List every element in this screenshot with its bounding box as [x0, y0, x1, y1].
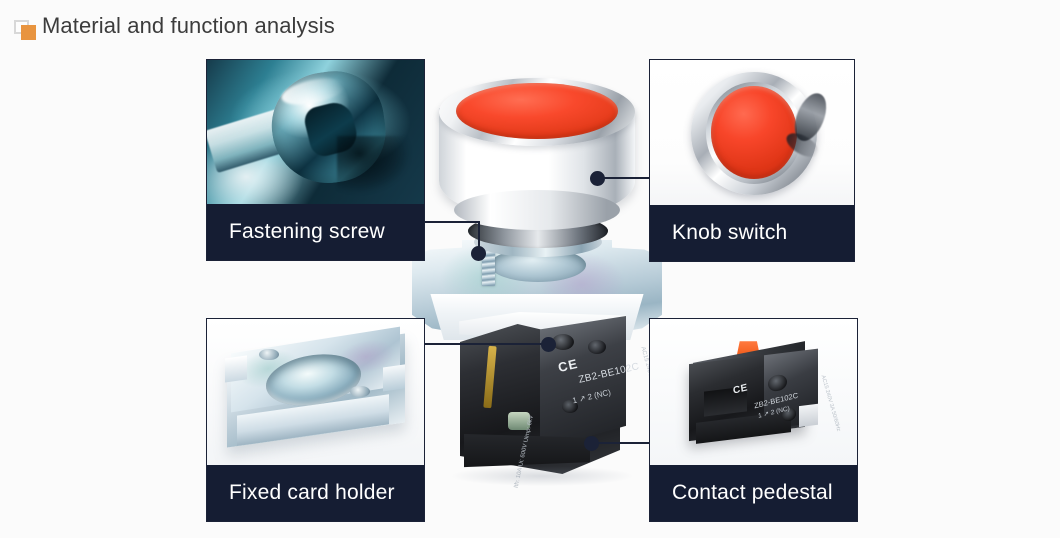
- leader-line-knob-switch: [600, 177, 651, 179]
- holder-notch-right: [383, 365, 405, 392]
- leader-dot-fixed-card-holder: [541, 337, 556, 352]
- callout-label-contact-pedestal: Contact pedestal: [650, 481, 833, 505]
- callout-fixed-card-holder[interactable]: Fixed card holder: [206, 318, 425, 522]
- callout-label-knob-switch: Knob switch: [650, 221, 787, 245]
- knob-switch-photo: [650, 60, 854, 207]
- holder-screw-seat-2: [350, 386, 370, 398]
- screw-shadow: [337, 136, 411, 194]
- product-block-hole-2: [588, 340, 606, 354]
- callout-label-band-knob-switch: Knob switch: [650, 205, 854, 261]
- double-square-icon: [14, 20, 38, 40]
- pedestal-white-tab: [799, 404, 818, 427]
- page-title: Material and function analysis: [42, 13, 335, 39]
- callout-label-band-fastening-screw: Fastening screw: [207, 204, 424, 260]
- product-red-button-cap: [456, 83, 618, 139]
- callout-contact-pedestal[interactable]: CE ZB2-BE102C 1 ↗ 2 (NC) AC15 240V 3A 50…: [649, 318, 858, 522]
- callout-photo-knob-switch: [650, 60, 854, 207]
- leader-dot-fastening-screw: [471, 246, 486, 261]
- callout-label-fixed-card-holder: Fixed card holder: [207, 481, 395, 505]
- callout-knob-switch[interactable]: Knob switch: [649, 59, 855, 262]
- holder-notch-left: [225, 356, 247, 383]
- callout-photo-contact-pedestal: CE ZB2-BE102C 1 ↗ 2 (NC) AC15 240V 3A 50…: [650, 319, 857, 467]
- contact-pedestal-photo: CE ZB2-BE102C 1 ↗ 2 (NC) AC15 240V 3A 50…: [650, 319, 857, 467]
- callout-label-band-contact-pedestal: Contact pedestal: [650, 465, 857, 521]
- card-holder-photo: [207, 319, 424, 467]
- callout-photo-fastening-screw: [207, 60, 424, 206]
- knob-red-cap: [711, 86, 797, 179]
- pedestal-rating-mark: AC15 240V 3A 50/60Hz: [819, 375, 842, 433]
- leader-dot-knob-switch: [590, 171, 605, 186]
- callout-label-fastening-screw: Fastening screw: [207, 220, 385, 244]
- leader-line-fixed-card-holder: [425, 343, 548, 345]
- screw-macro-photo: [207, 60, 424, 206]
- callout-label-band-fixed-card-holder: Fixed card holder: [207, 465, 424, 521]
- leader-line-fastening-screw-h: [425, 221, 480, 223]
- leader-line-contact-pedestal: [594, 442, 651, 444]
- square-filled-icon: [21, 25, 36, 40]
- infographic-canvas: Material and function analysis CE ZB2-BE…: [0, 0, 1060, 538]
- callout-photo-fixed-card-holder: [207, 319, 424, 467]
- leader-dot-contact-pedestal: [584, 436, 599, 451]
- product-drop-shadow: [452, 466, 632, 486]
- callout-fastening-screw[interactable]: Fastening screw: [206, 59, 425, 261]
- product-assembly-image: CE ZB2-BE102C 1 ↗ 2 (NC) AC15 240V 3A 50…: [412, 62, 662, 538]
- holder-screw-seat-1: [259, 349, 279, 361]
- page-header: Material and function analysis: [0, 0, 1060, 52]
